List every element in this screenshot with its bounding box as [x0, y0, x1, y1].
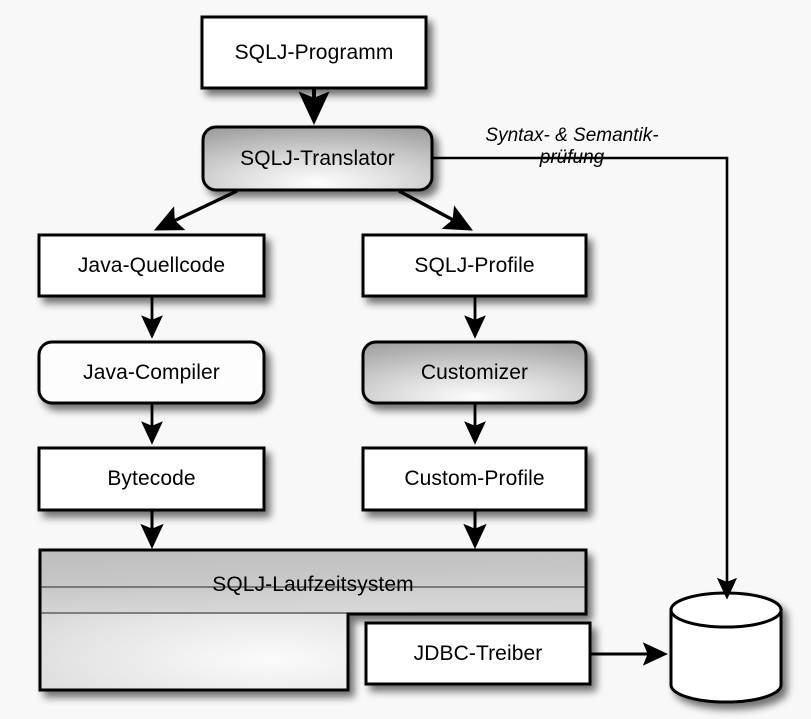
- node-java-compiler[interactable]: [39, 342, 264, 403]
- node-customizer[interactable]: [363, 342, 586, 403]
- edge-translator-to-sqlj-profile: [399, 191, 470, 229]
- node-sqlj-translator[interactable]: [203, 127, 432, 190]
- node-jdbc-treiber[interactable]: [366, 623, 590, 684]
- annotation-syntax-semantik-pruefung: Syntax- & Semantik- prüfung: [452, 125, 692, 169]
- node-bytecode[interactable]: [39, 448, 264, 510]
- diagram-canvas: SQLJ-Programm SQLJ-Translator Java-Quell…: [0, 0, 811, 719]
- node-java-quellcode[interactable]: [39, 235, 264, 296]
- edge-translator-to-java-quellcode: [157, 191, 237, 229]
- node-datenbank-cylinder[interactable]: [671, 593, 781, 702]
- node-custom-profile[interactable]: [363, 448, 586, 510]
- diagram-graphics: [0, 0, 811, 719]
- node-sqlj-programm[interactable]: [202, 17, 426, 88]
- node-sqlj-profile[interactable]: [363, 235, 586, 296]
